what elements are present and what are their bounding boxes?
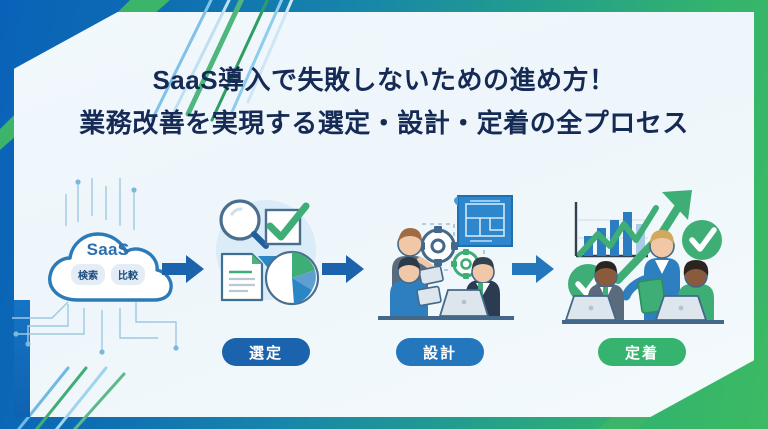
arrow-3-icon (512, 254, 554, 284)
laptop-icon-right (656, 296, 706, 320)
step-3-illustration (552, 184, 732, 334)
poster-canvas: SaaS導入で失敗しないための進め方！ 業務改善を実現する選定・設計・定着の全プ… (0, 0, 768, 429)
title-line-1: SaaS導入で失敗しないための進め方！ (0, 62, 768, 99)
step-1-illustration (200, 184, 330, 314)
tag-search: 検索 (71, 264, 105, 285)
blueprint-icon (454, 196, 512, 246)
process-flow: SaaS 検索 比較 (0, 176, 768, 376)
saas-label: SaaS (48, 240, 168, 260)
document-icon (222, 254, 262, 300)
step-2-label: 設計 (396, 338, 484, 366)
step-1-label-text: 選定 (249, 342, 283, 363)
step-1-label: 選定 (222, 338, 310, 366)
tag-compare: 比較 (111, 264, 145, 285)
step-3-label: 定着 (598, 338, 686, 366)
cloud-content: SaaS 検索 比較 (48, 228, 168, 302)
step-2-illustration (362, 184, 522, 334)
arrow-1-icon (162, 254, 204, 284)
laptop-icon-left (566, 296, 616, 320)
step-3-label-text: 定着 (625, 342, 659, 363)
page-title: SaaS導入で失敗しないための進め方！ 業務改善を実現する選定・設計・定着の全プ… (0, 62, 768, 142)
checkbox-icon (266, 206, 306, 244)
arrow-2-icon (322, 254, 364, 284)
pie-chart-icon (266, 252, 318, 304)
laptop-icon (440, 290, 488, 316)
saas-tags: 検索 比較 (48, 264, 168, 285)
check-circle-icon-right (682, 220, 722, 260)
saas-source-node: SaaS 検索 比較 (14, 176, 204, 326)
title-line-2: 業務改善を実現する選定・設計・定着の全プロセス (0, 105, 768, 142)
step-2-label-text: 設計 (423, 342, 457, 363)
